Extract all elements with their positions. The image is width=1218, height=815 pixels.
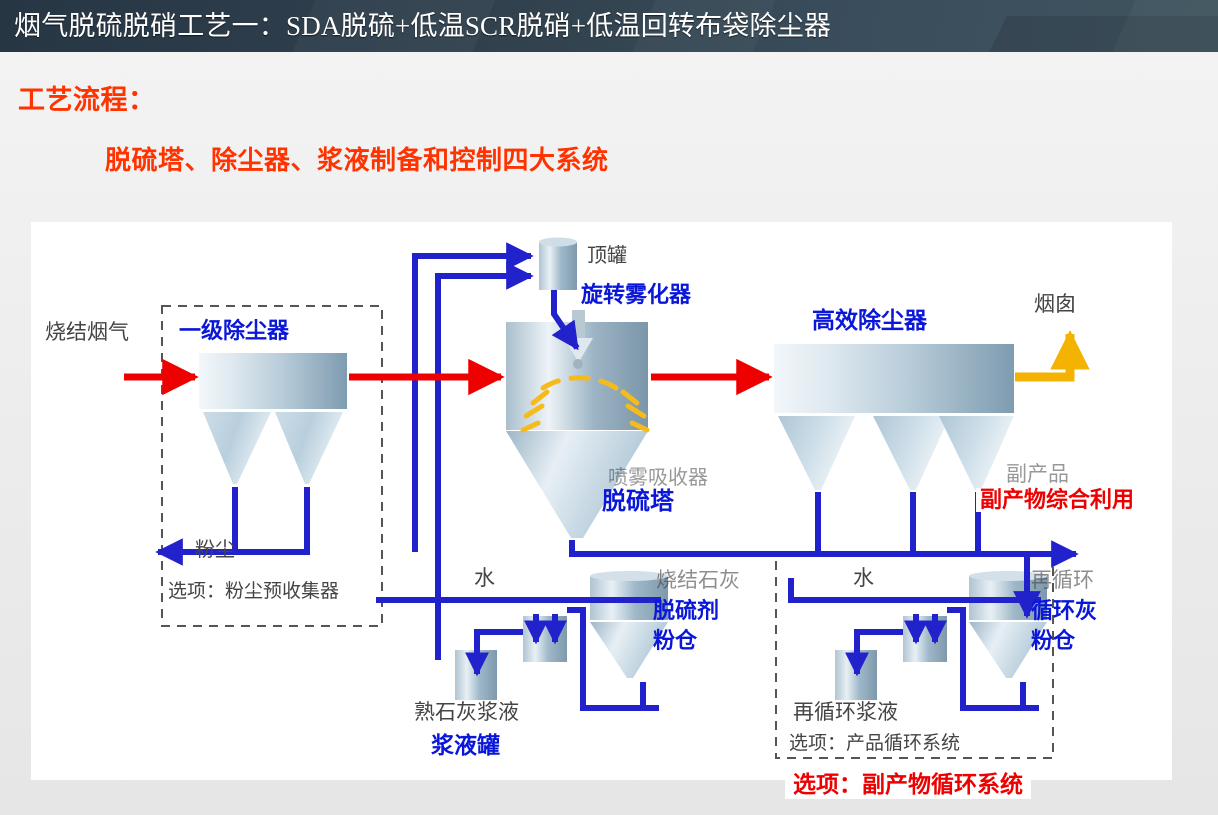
label-primary-dust-collector: 一级除尘器 — [179, 320, 289, 342]
label-rotary-atomizer: 旋转雾化器 — [581, 284, 691, 306]
label-recirculation: 再循环 — [1031, 570, 1094, 591]
label-recycle-ash-silo-line1: 循环灰 — [1031, 600, 1097, 622]
label-water-right: 水 — [853, 568, 874, 589]
section-heading-process-flow: 工艺流程： — [18, 78, 156, 117]
label-option-byproduct-recycle: 选项：副产物循环系统 — [785, 770, 1031, 799]
slurry-tank-cluster-left — [455, 616, 567, 700]
label-desulfurizer-silo-line1: 脱硫剂 — [653, 600, 719, 622]
label-recycle-ash-silo-line2: 粉仓 — [1031, 630, 1075, 652]
label-chimney: 烟囱 — [1034, 294, 1076, 315]
label-sintered-lime: 烧结石灰 — [656, 570, 740, 591]
label-option-product-recycle: 选项：产品循环系统 — [789, 734, 960, 753]
process-flow-diagram-panel: 烧结烟气 一级除尘器 粉尘 选项：粉尘预收集器 顶罐 旋转雾化器 喷雾吸收器 脱… — [31, 222, 1172, 780]
label-byproduct-utilization: 副产物综合利用 — [976, 488, 1138, 512]
label-water-left: 水 — [474, 568, 495, 589]
high-efficiency-collector-equipment — [774, 344, 1014, 490]
top-tank-equipment — [539, 238, 577, 291]
slurry-tank-cluster-right — [835, 616, 947, 700]
stack-gas-path — [1015, 334, 1070, 377]
label-slaked-lime-slurry: 熟石灰浆液 — [414, 702, 519, 723]
label-desulfurization-tower: 脱硫塔 — [602, 490, 674, 514]
page-title: 烟气脱硫脱硝工艺一：SDA脱硫+低温SCR脱硝+低温回转布袋除尘器 — [14, 4, 831, 43]
label-option-pre-collector: 选项：粉尘预收集器 — [168, 582, 339, 601]
label-byproduct: 副产品 — [1006, 464, 1069, 485]
label-spray-absorber: 喷雾吸收器 — [608, 468, 708, 488]
label-high-efficiency-collector: 高效除尘器 — [812, 309, 927, 332]
primary-dust-collector-equipment — [199, 353, 347, 484]
label-dust: 粉尘 — [195, 540, 235, 560]
label-desulfurizer-silo-line2: 粉仓 — [653, 630, 697, 652]
label-flue-gas-inlet: 烧结烟气 — [45, 322, 129, 343]
label-slurry-tank: 浆液罐 — [431, 734, 500, 757]
title-bar: 烟气脱硫脱硝工艺一：SDA脱硫+低温SCR脱硝+低温回转布袋除尘器 — [0, 0, 1218, 52]
label-top-tank: 顶罐 — [587, 246, 627, 266]
section-subheading-four-systems: 脱硫塔、除尘器、浆液制备和控制四大系统 — [105, 140, 609, 177]
label-recirculated-slurry: 再循环浆液 — [793, 702, 898, 723]
